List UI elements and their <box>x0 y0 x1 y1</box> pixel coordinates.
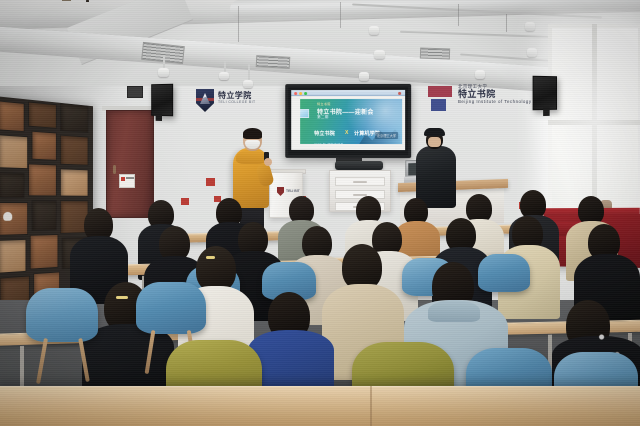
podium-crest-icon <box>277 187 284 196</box>
cap <box>424 128 445 136</box>
ceiling <box>0 0 640 86</box>
track-spotlight[interactable] <box>243 80 253 88</box>
track-spotlight[interactable] <box>374 50 385 59</box>
sign-right-cn: 特立书院 <box>458 90 532 99</box>
sign-left-en: TELI COLLEGE BIT <box>218 100 256 105</box>
blue-shell-chair[interactable] <box>136 282 206 334</box>
track-spotlight[interactable] <box>527 48 537 57</box>
foreground-table <box>0 386 640 426</box>
room-notice-sign <box>119 174 135 188</box>
table-seam <box>370 386 372 426</box>
slide-left-term: 特立书院 <box>314 130 335 137</box>
shelf-decor-object <box>62 0 71 1</box>
window-mullion <box>548 120 640 125</box>
window <box>548 24 640 224</box>
air-vent <box>256 55 291 69</box>
presenter-hair <box>243 128 262 139</box>
sign-red-block <box>428 86 452 97</box>
hanging-wire <box>506 14 507 32</box>
wall-control-panel[interactable] <box>127 86 143 98</box>
track-spotlight[interactable] <box>525 22 535 31</box>
shield-crest-icon <box>196 89 214 112</box>
hood <box>428 300 480 322</box>
slide-separator: X <box>345 130 348 136</box>
podium-logo-text: TELI BIT <box>286 189 300 193</box>
standing-attendee-face <box>428 137 441 147</box>
app-titlebar <box>291 90 405 96</box>
shelf-decor-object <box>3 212 12 221</box>
classroom-scene: 特立学院 TELI COLLEGE BIT 北京理工大学 特立书院 Beijin… <box>0 0 640 426</box>
wall-speaker-right <box>533 76 557 111</box>
sign-left-cn: 特立学院 <box>218 91 256 100</box>
track-spotlight[interactable] <box>475 70 485 79</box>
track-spotlight[interactable] <box>219 72 229 80</box>
wall-accent-square <box>206 178 215 186</box>
presenter-hand <box>264 158 272 166</box>
door-handle[interactable] <box>113 165 116 174</box>
slide-subtitle: 第二期 <box>317 115 329 120</box>
hanging-wire <box>458 4 459 26</box>
cabinet-drawer[interactable] <box>335 177 385 186</box>
wall-speaker-left <box>151 84 173 117</box>
blue-shell-chair[interactable] <box>26 288 98 342</box>
sign-right-en: Beijing Institute of Technology <box>458 99 532 105</box>
media-player[interactable] <box>335 161 383 170</box>
wall-sign-left: 特立学院 TELI COLLEGE BIT <box>196 88 262 116</box>
hanging-wire <box>340 2 341 28</box>
wall-sign-right: 北京理工大学 特立书院 Beijing Institute of Technol… <box>428 82 502 116</box>
cabinet-drawer[interactable] <box>335 190 385 199</box>
track-spotlight[interactable] <box>158 68 169 77</box>
track-spotlight[interactable] <box>369 26 379 35</box>
podium-logo: TELI BIT <box>277 187 299 196</box>
presentation-display[interactable]: 特立书院 特立书院——迎新会 第二期 特立书院 X 计算机学院 2023 年 迎… <box>285 84 411 158</box>
slide-eyebrow: 特立书院 <box>317 102 331 106</box>
slide-logo <box>300 109 309 118</box>
slide-line-3: 2023 年 迎新交流会 <box>314 142 344 144</box>
slide-canvas: 特立书院 特立书院——迎新会 第二期 特立书院 X 计算机学院 2023 年 迎… <box>300 99 402 144</box>
display-screen: 特立书院 特立书院——迎新会 第二期 特立书院 X 计算机学院 2023 年 迎… <box>291 90 405 150</box>
sign-blue-block <box>431 99 446 111</box>
standing-attendee-body <box>416 146 456 208</box>
track-spotlight[interactable] <box>359 72 369 81</box>
air-vent <box>420 47 450 59</box>
presenter-hood <box>236 150 266 164</box>
slide-badge: 北京理工大学 <box>375 132 398 139</box>
hanging-wire <box>238 6 239 42</box>
blue-shell-chair[interactable] <box>478 254 530 292</box>
eiffel-tower-figurine <box>86 0 89 2</box>
classroom-door[interactable] <box>106 110 154 218</box>
wall-accent-square <box>181 198 189 205</box>
